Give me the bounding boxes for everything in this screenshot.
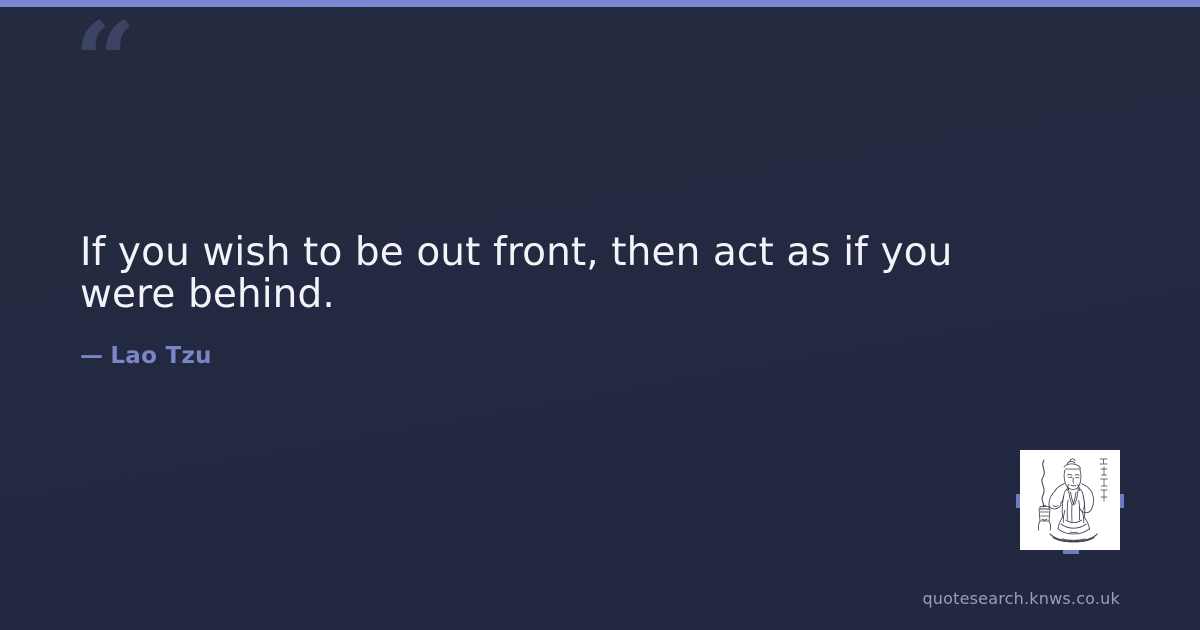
top-accent-bar [0, 0, 1200, 7]
portrait-frame [1020, 450, 1120, 550]
author-portrait[interactable] [1020, 450, 1120, 550]
quote-block: If you wish to be out front, then act as… [80, 232, 960, 369]
portrait-tick-right [1120, 494, 1124, 508]
quote-card: “ If you wish to be out front, then act … [0, 0, 1200, 630]
quote-attribution: —Lao Tzu [80, 316, 960, 369]
site-watermark: quotesearch.knws.co.uk [922, 589, 1120, 608]
open-quote-icon: “ [74, 8, 134, 116]
portrait-tick-bottom [1063, 550, 1079, 554]
lao-tzu-illustration-icon [1020, 450, 1120, 550]
quote-text: If you wish to be out front, then act as… [80, 232, 960, 316]
attribution-dash: — [80, 343, 110, 369]
attribution-author: Lao Tzu [110, 343, 212, 369]
